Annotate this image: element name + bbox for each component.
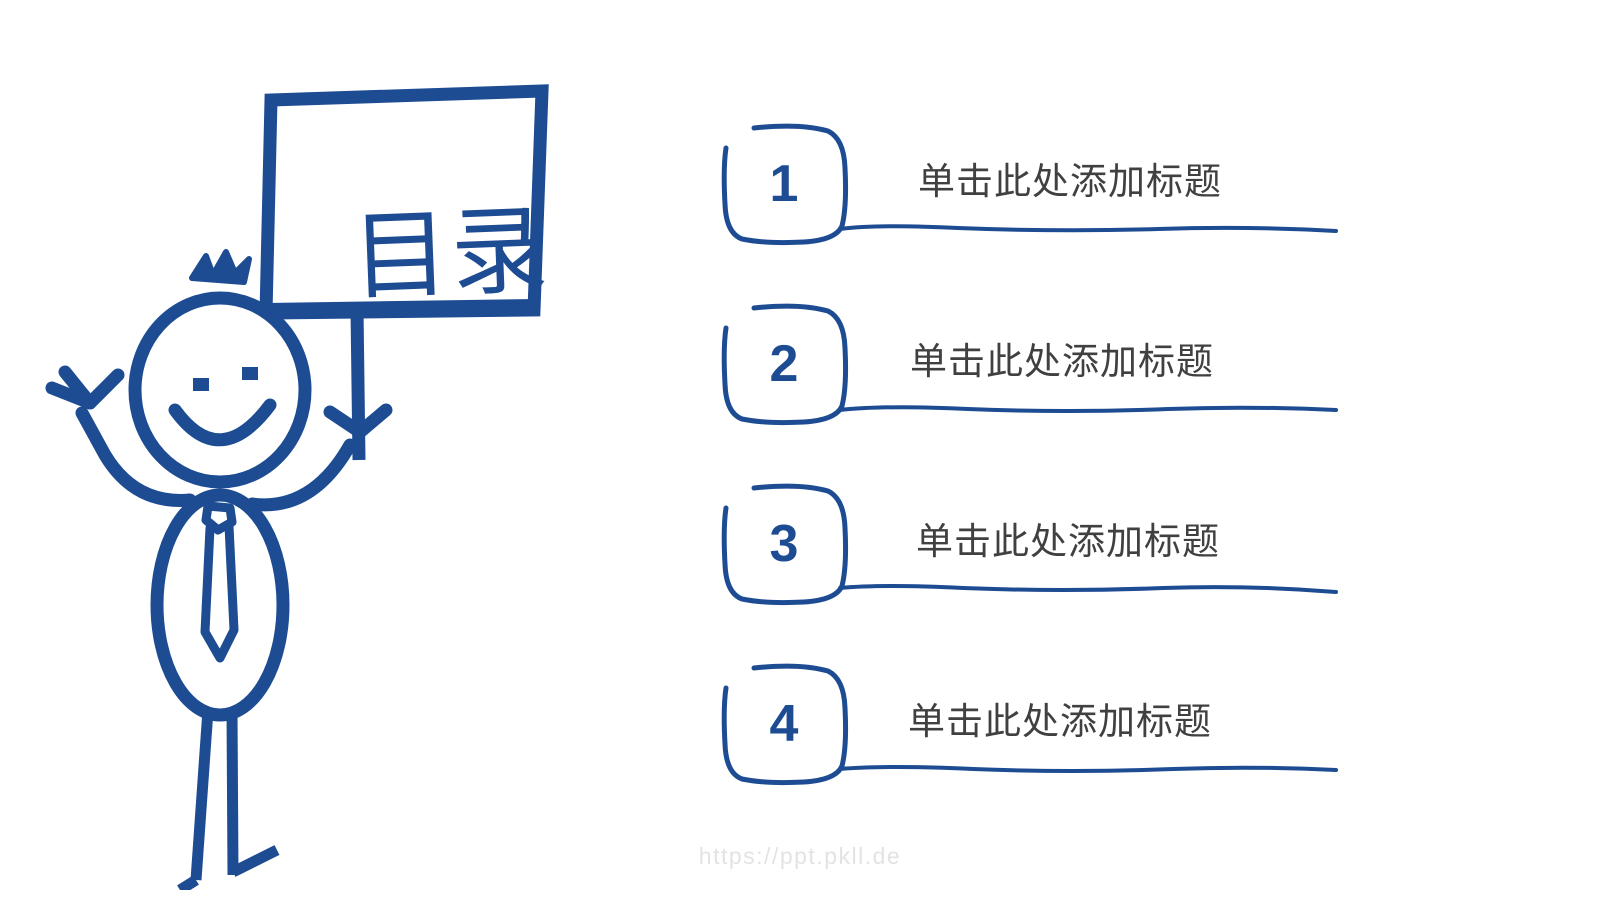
agenda-item-underline	[838, 400, 1338, 418]
agenda-item-2[interactable]: 2 单击此处添加标题	[700, 302, 1360, 432]
number-badge-4[interactable]: 4	[718, 662, 850, 786]
rounded-square-icon	[718, 302, 850, 426]
agenda-item-title: 单击此处添加标题	[908, 698, 1398, 746]
agenda-list: 1 单击此处添加标题 2 单击此处添加标题	[700, 110, 1380, 810]
agenda-item-title: 单击此处添加标题	[916, 518, 1406, 566]
agenda-item-1[interactable]: 1 单击此处添加标题	[700, 122, 1360, 252]
agenda-item-underline	[838, 760, 1338, 778]
agenda-item-title: 单击此处添加标题	[910, 338, 1400, 386]
watermark-url: https://ppt.pkll.de	[0, 843, 1600, 870]
number-badge-1[interactable]: 1	[718, 122, 850, 246]
hair-tuft	[192, 252, 249, 282]
number-badge-2[interactable]: 2	[718, 302, 850, 426]
agenda-item-title: 单击此处添加标题	[918, 158, 1408, 206]
left-hand	[52, 372, 118, 403]
rounded-square-icon	[718, 662, 850, 786]
rounded-square-icon	[718, 122, 850, 246]
agenda-item-underline	[838, 580, 1338, 598]
number-badge-3[interactable]: 3	[718, 482, 850, 606]
stick-figure-illustration: 目录	[30, 60, 650, 890]
agenda-item-3[interactable]: 3 单击此处添加标题	[700, 482, 1360, 612]
slide-canvas: 目录 1 单击此处添加标题 2	[0, 0, 1600, 900]
sign-board	[266, 91, 542, 313]
rounded-square-icon	[718, 482, 850, 606]
agenda-item-4[interactable]: 4 单击此处添加标题	[700, 662, 1360, 792]
left-eye	[193, 378, 209, 391]
right-eye	[242, 367, 258, 380]
agenda-item-underline	[838, 220, 1338, 238]
illustration-svg	[30, 60, 650, 890]
head	[135, 298, 305, 482]
